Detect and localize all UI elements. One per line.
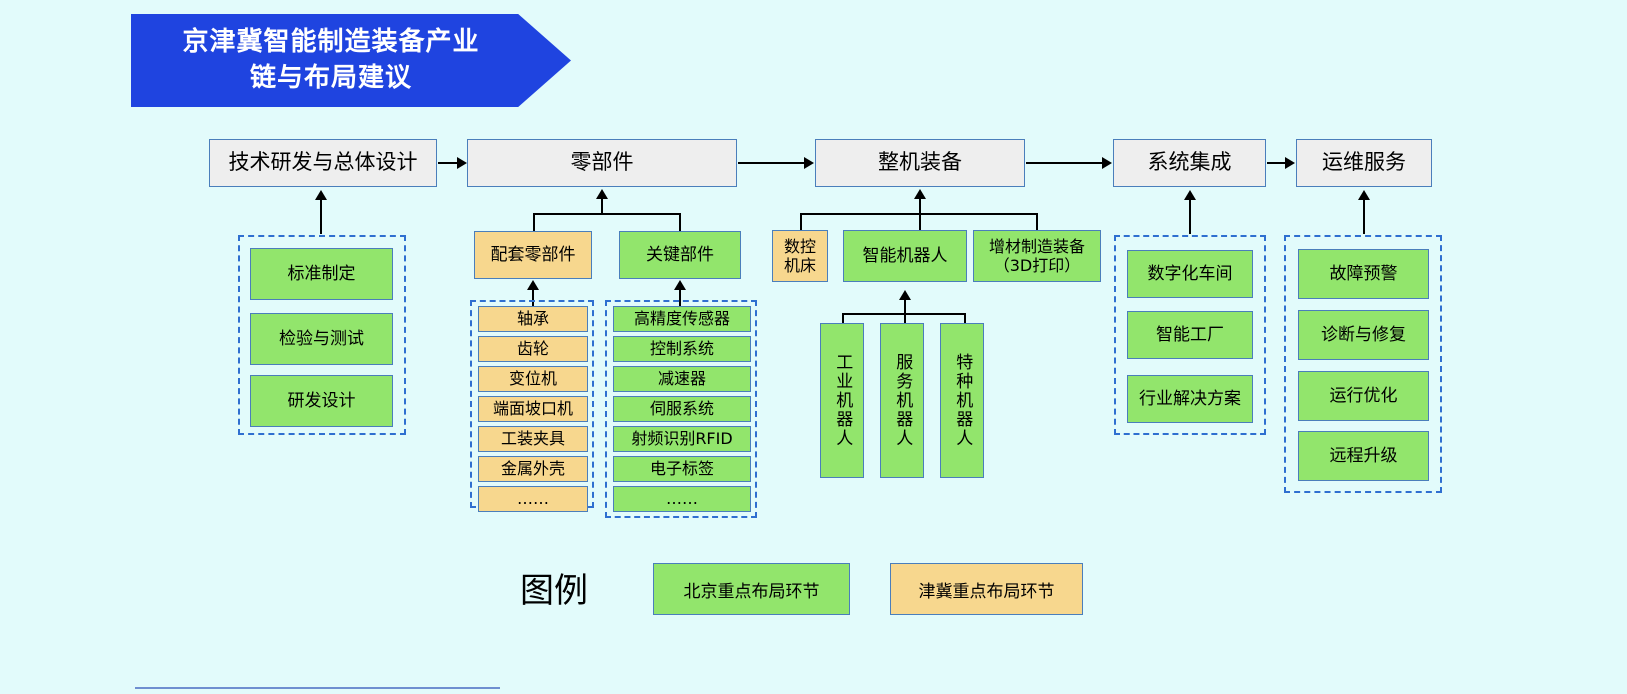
node-label: 控制系统 (650, 339, 714, 358)
node-label: 高精度传感器 (634, 309, 730, 328)
node-label: 行业解决方案 (1139, 389, 1241, 409)
node-label: 工装夹具 (501, 429, 565, 448)
node-label: 远程升级 (1330, 446, 1398, 466)
stage-box-ops-service[interactable]: 运维服务 (1296, 139, 1432, 187)
equipment-category-intelligent-robot[interactable]: 智能机器人 (843, 230, 967, 282)
key-part-reducer[interactable]: 减速器 (613, 366, 751, 392)
connector-equipment-arrow (914, 189, 926, 199)
stage-label: 零部件 (571, 150, 634, 175)
key-part-rfid[interactable]: 射频识别RFID (613, 426, 751, 452)
node-label: 射频识别RFID (631, 429, 732, 448)
connector-service-group-arrow (1358, 190, 1370, 200)
footer-rule (135, 687, 500, 689)
node-label: 研发设计 (288, 391, 356, 411)
legend-entry-beijing: 北京重点布局环节 (653, 563, 850, 615)
connector-rd-group-arrow (315, 190, 327, 200)
integration-item-smart-factory[interactable]: 智能工厂 (1127, 311, 1253, 359)
legend-entry-tianjin-hebei: 津冀重点布局环节 (890, 563, 1083, 615)
node-label: …… (517, 489, 549, 508)
node-label: 电子标签 (650, 459, 714, 478)
node-label: 故障预警 (1330, 264, 1398, 284)
node-label: 端面坡口机 (493, 399, 573, 418)
equipment-category-additive-manufacturing[interactable]: 增材制造装备 （3D打印） (973, 230, 1101, 282)
supporting-part-beveling-machine[interactable]: 端面坡口机 (478, 396, 588, 422)
supporting-part-fixture[interactable]: 工装夹具 (478, 426, 588, 452)
stage-box-complete-equipment[interactable]: 整机装备 (815, 139, 1025, 187)
legend-entry-label: 津冀重点布局环节 (919, 577, 1055, 602)
supporting-part-gear[interactable]: 齿轮 (478, 336, 588, 362)
node-label: 智能工厂 (1156, 325, 1224, 345)
rd-item-inspection-testing[interactable]: 检验与测试 (250, 313, 393, 365)
connector-robots-arrow (899, 290, 911, 300)
connector-parts-left-drop (533, 213, 535, 231)
connector-integration-group-stem (1189, 200, 1191, 234)
stage-box-technology-rd[interactable]: 技术研发与总体设计 (209, 139, 437, 187)
node-label: 数字化车间 (1148, 264, 1233, 284)
node-label: 配套零部件 (491, 245, 576, 265)
connector-equipment-right-drop (1036, 213, 1038, 230)
rd-item-standards[interactable]: 标准制定 (250, 248, 393, 300)
stage-label: 技术研发与总体设计 (229, 150, 418, 175)
diagram-canvas: 京津冀智能制造装备产业 链与布局建议 技术研发与总体设计 零部件 整机装备 系统… (0, 0, 1627, 694)
service-item-diagnosis-repair[interactable]: 诊断与修复 (1298, 310, 1429, 360)
legend-entry-label: 北京重点布局环节 (684, 577, 820, 602)
arrow-head-rd-to-parts (457, 157, 467, 169)
node-label: 增材制造装备 （3D打印） (989, 237, 1085, 275)
arrow-head-parts-to-equipment (804, 157, 814, 169)
stage-box-system-integration[interactable]: 系统集成 (1113, 139, 1266, 187)
integration-item-industry-solutions[interactable]: 行业解决方案 (1127, 375, 1253, 423)
service-item-operation-optimization[interactable]: 运行优化 (1298, 371, 1429, 421)
node-label: 工业机器人 (832, 353, 852, 448)
rd-item-research-design[interactable]: 研发设计 (250, 375, 393, 427)
robot-type-service[interactable]: 服务机器人 (880, 323, 924, 478)
key-part-high-precision-sensor[interactable]: 高精度传感器 (613, 306, 751, 332)
connector-key-list-arrow (674, 280, 686, 290)
stage-box-components[interactable]: 零部件 (467, 139, 737, 187)
node-label: 伺服系统 (650, 399, 714, 418)
service-item-fault-warning[interactable]: 故障预警 (1298, 249, 1429, 299)
node-label: 标准制定 (288, 264, 356, 284)
arrow-line-integration-to-service (1267, 162, 1285, 164)
arrow-head-integration-to-service (1285, 157, 1295, 169)
equipment-category-cnc-machine[interactable]: 数控 机床 (772, 230, 828, 282)
connector-parts-arrow (596, 189, 608, 199)
node-label: 关键部件 (646, 245, 714, 265)
node-label: 检验与测试 (279, 329, 364, 349)
arrow-line-equipment-to-integration (1026, 162, 1102, 164)
key-part-servo-system[interactable]: 伺服系统 (613, 396, 751, 422)
node-label: 轴承 (517, 309, 549, 328)
legend-title: 图例 (520, 563, 640, 611)
supporting-part-metal-shell[interactable]: 金属外壳 (478, 456, 588, 482)
arrow-line-rd-to-parts (438, 162, 458, 164)
connector-rd-group-stem (320, 200, 322, 234)
key-part-electronic-tag[interactable]: 电子标签 (613, 456, 751, 482)
node-label: 智能机器人 (863, 246, 948, 266)
node-label: 运行优化 (1330, 386, 1398, 406)
node-label: 服务机器人 (892, 353, 912, 448)
stage-label: 运维服务 (1322, 150, 1406, 175)
connector-equipment-left-drop (800, 213, 802, 230)
supporting-part-positioner[interactable]: 变位机 (478, 366, 588, 392)
node-label: 减速器 (658, 369, 706, 388)
connector-parts-stem (601, 198, 603, 214)
integration-item-digital-workshop[interactable]: 数字化车间 (1127, 250, 1253, 298)
supporting-part-bearing[interactable]: 轴承 (478, 306, 588, 332)
parts-category-key[interactable]: 关键部件 (619, 231, 741, 279)
connector-parts-bracket (533, 213, 680, 215)
connector-robots-stem (904, 299, 906, 314)
robot-type-special[interactable]: 特种机器人 (940, 323, 984, 478)
connector-equipment-stem (919, 198, 921, 214)
service-item-remote-upgrade[interactable]: 远程升级 (1298, 431, 1429, 481)
node-label: 诊断与修复 (1321, 325, 1406, 345)
node-label: 金属外壳 (501, 459, 565, 478)
connector-integration-group-arrow (1184, 190, 1196, 200)
key-part-more[interactable]: …… (613, 486, 751, 512)
parts-category-supporting[interactable]: 配套零部件 (474, 231, 592, 279)
connector-equipment-mid-drop (919, 213, 921, 230)
node-label: 特种机器人 (952, 353, 972, 448)
connector-supporting-list-arrow (527, 280, 539, 290)
connector-service-group-stem (1363, 200, 1365, 234)
node-label: 齿轮 (517, 339, 549, 358)
node-label: 数控 机床 (784, 237, 816, 275)
robot-type-industrial[interactable]: 工业机器人 (820, 323, 864, 478)
arrow-line-parts-to-equipment (738, 162, 804, 164)
title-banner-text: 京津冀智能制造装备产业 链与布局建议 (182, 25, 519, 95)
arrow-head-equipment-to-integration (1102, 157, 1112, 169)
stage-label: 系统集成 (1148, 150, 1232, 175)
node-label: 变位机 (509, 369, 557, 388)
stage-label: 整机装备 (878, 150, 962, 175)
key-part-control-system[interactable]: 控制系统 (613, 336, 751, 362)
connector-parts-right-drop (679, 213, 681, 231)
title-banner: 京津冀智能制造装备产业 链与布局建议 (131, 14, 571, 107)
node-label: …… (666, 489, 698, 508)
supporting-part-more[interactable]: …… (478, 486, 588, 512)
legend-title-text: 图例 (520, 563, 588, 612)
